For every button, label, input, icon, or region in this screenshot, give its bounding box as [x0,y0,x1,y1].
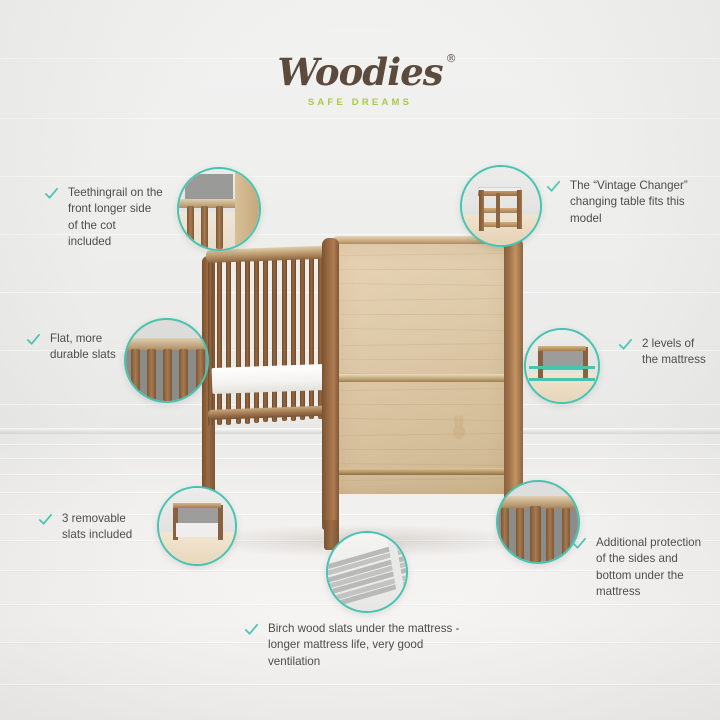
inset-cot-rail [538,346,587,351]
feature-inset-flat-slats[interactable] [124,318,209,403]
inset-photo [526,330,598,402]
callout-text: 2 levels of the mattress [642,336,706,369]
cot-panel-rail-lower [334,468,514,475]
callout-side-protection: Additional protection of the sides and b… [572,535,718,601]
callout-birch-base: Birch wood slats under the mattress - lo… [244,621,494,670]
inset-level-marker-lower [529,378,595,381]
inset-slat [187,206,194,249]
inset-floor [159,532,235,564]
callout-text: Birch wood slats under the mattress - lo… [268,621,459,670]
registered-mark: ® [446,52,456,65]
brand-tagline: SAFE DREAMS [0,97,720,108]
inset-floor [462,215,540,245]
inset-cot-post [583,347,588,379]
inset-cot-rail [173,503,222,508]
cot-panel-rail-upper [334,374,514,382]
inset-wall [126,320,207,338]
cot-post-front-right [322,238,339,530]
feature-inset-removable-slats[interactable] [157,486,237,566]
callout-text: 3 removable slats included [62,511,132,544]
callout-text: Additional protection of the sides and b… [596,535,701,601]
check-icon [618,337,633,352]
inset-photo [126,320,207,401]
feature-inset-birch-base[interactable] [326,531,408,613]
inset-changer-shelf [481,208,520,213]
check-icon [26,332,41,347]
inset-photo [462,167,540,245]
callout-mattress-levels: 2 levels of the mattress [618,336,714,369]
bunny-motif-icon [448,414,470,440]
feature-inset-teething-rail[interactable] [177,167,261,251]
callout-vintage-changer: The “Vintage Changer” changing table fit… [546,178,706,227]
inset-slat [501,508,509,562]
inset-changer-leg [517,190,522,229]
inset-cot-post [218,505,223,540]
cot-mattress [212,364,339,394]
cot-head-panel [334,244,514,494]
inset-panel-edge [235,169,259,249]
inset-slat [147,349,156,401]
callout-removable-slats: 3 removable slats included [38,511,154,544]
inset-slat [216,206,223,249]
callout-teething-rail: Teethingrail on the front longer side of… [44,185,184,251]
inset-photo [159,488,235,564]
inset-wall [498,482,578,496]
brand-name: Woodies ® [277,50,442,94]
inset-slat [201,206,208,249]
inset-slat [163,349,172,401]
check-icon [38,512,53,527]
inset-photo [498,482,578,562]
inset-slat [196,349,205,401]
inset-slat [562,508,570,562]
brand-name-text: Woodies [277,50,442,94]
inset-slat [179,349,188,401]
check-icon [546,179,561,194]
inset-changer-shelf [482,222,519,227]
cot-side-slats [208,254,334,426]
callout-text: Flat, more durable slats [50,331,116,364]
inset-changer-leg [496,193,500,228]
inset-slat [516,508,524,562]
callout-text: Teethingrail on the front longer side of… [68,185,163,251]
cot-product-image [182,228,542,528]
check-icon [244,622,259,637]
brand-logo: Woodies ® SAFE DREAMS [0,50,720,108]
check-icon [572,536,587,551]
inset-level-marker-upper [529,366,595,369]
inset-corner-post [530,506,541,562]
inset-cot-post [538,347,543,379]
callout-flat-slats: Flat, more durable slats [26,331,136,364]
infographic-page: Woodies ® SAFE DREAMS [0,0,720,720]
inset-changer-leg [479,190,484,231]
feature-inset-mattress-levels[interactable] [524,328,600,404]
inset-photo [179,169,259,249]
inset-photo [328,533,406,611]
inset-removed-slat-gap [176,523,219,537]
check-icon [44,186,59,201]
panel-wood-grain [340,250,508,488]
inset-top-rail [124,338,209,350]
feature-inset-vintage-changer[interactable] [460,165,542,247]
feature-inset-side-protection[interactable] [496,480,580,564]
callout-text: The “Vintage Changer” changing table fit… [570,178,688,227]
inset-slat [546,508,554,562]
